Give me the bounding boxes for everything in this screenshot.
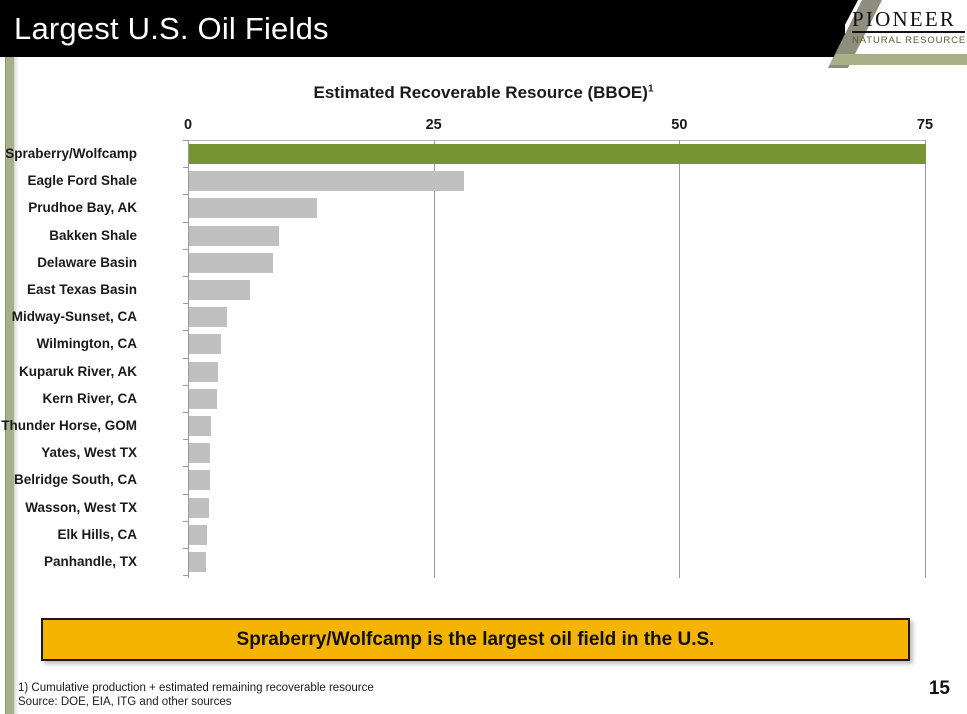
bar-spraberry-wolfcamp (189, 144, 926, 164)
chart-plot-area: Spraberry/WolfcampEagle Ford ShalePrudho… (188, 140, 925, 578)
footnotes: 1) Cumulative production + estimated rem… (18, 681, 374, 709)
chart-title-footnote-marker: 1 (648, 83, 654, 94)
callout-box: Spraberry/Wolfcamp is the largest oil fi… (41, 618, 910, 661)
y-axis-tick (183, 494, 188, 495)
category-label-spraberry-wolfcamp: Spraberry/Wolfcamp (0, 144, 137, 164)
bar-midway-sunset-ca (189, 307, 227, 327)
chart-row: Thunder Horse, GOM (188, 412, 925, 440)
footnote-1: 1) Cumulative production + estimated rem… (18, 681, 374, 695)
category-label-yates-west-tx: Yates, West TX (0, 443, 137, 463)
y-axis-tick (183, 548, 188, 549)
y-axis-tick (183, 330, 188, 331)
chart-row: Bakken Shale (188, 222, 925, 250)
page-title: Largest U.S. Oil Fields (14, 4, 329, 54)
category-label-thunder-horse-gom: Thunder Horse, GOM (0, 416, 137, 436)
bar-kern-river-ca (189, 389, 217, 409)
y-axis-tick (183, 276, 188, 277)
bar-thunder-horse-gom (189, 416, 211, 436)
x-axis-tick-50: 50 (671, 117, 687, 133)
chart-row: Spraberry/Wolfcamp (188, 140, 925, 168)
bar-wasson-west-tx (189, 498, 209, 518)
category-label-wasson-west-tx: Wasson, West TX (0, 498, 137, 518)
y-axis-tick (183, 140, 188, 141)
bar-east-texas-basin (189, 280, 250, 300)
category-label-eagle-ford-shale: Eagle Ford Shale (0, 171, 137, 191)
company-logo: PIONEER NATURAL RESOURCES (852, 8, 967, 46)
bar-panhandle-tx (189, 552, 206, 572)
logo-rule (852, 31, 965, 33)
category-label-east-texas-basin: East Texas Basin (0, 280, 137, 300)
category-label-prudhoe-bay-ak: Prudhoe Bay, AK (0, 198, 137, 218)
chart-row: Kern River, CA (188, 385, 925, 413)
logo-accent-bar (852, 54, 967, 65)
bar-belridge-south-ca (189, 470, 210, 490)
chart-title-text: Estimated Recoverable Resource (BBOE) (313, 83, 647, 102)
gridline-75 (925, 140, 926, 578)
category-label-panhandle-tx: Panhandle, TX (0, 552, 137, 572)
chart-row: East Texas Basin (188, 276, 925, 304)
bar-bakken-shale (189, 226, 279, 246)
y-axis-tick (183, 358, 188, 359)
chart-row: Elk Hills, CA (188, 521, 925, 549)
footnote-2: Source: DOE, EIA, ITG and other sources (18, 695, 374, 709)
category-label-kern-river-ca: Kern River, CA (0, 389, 137, 409)
bar-kuparuk-river-ak (189, 362, 218, 382)
chart-row: Wilmington, CA (188, 330, 925, 358)
x-axis-tick-0: 0 (184, 117, 192, 133)
callout-text: Spraberry/Wolfcamp is the largest oil fi… (237, 629, 715, 651)
category-label-elk-hills-ca: Elk Hills, CA (0, 525, 137, 545)
chart-row: Panhandle, TX (188, 548, 925, 576)
y-axis-tick (183, 385, 188, 386)
y-axis-tick (183, 303, 188, 304)
y-axis-tick (183, 194, 188, 195)
chart-row: Yates, West TX (188, 439, 925, 467)
y-axis-tick (183, 222, 188, 223)
category-label-midway-sunset-ca: Midway-Sunset, CA (0, 307, 137, 327)
category-label-belridge-south-ca: Belridge South, CA (0, 470, 137, 490)
category-label-wilmington-ca: Wilmington, CA (0, 334, 137, 354)
x-axis-tick-25: 25 (426, 117, 442, 133)
logo-wordmark: PIONEER (852, 8, 967, 30)
chart-row: Eagle Ford Shale (188, 167, 925, 195)
page-number: 15 (929, 678, 950, 700)
left-accent-shadow (14, 0, 19, 714)
slide: Largest U.S. Oil Fields PIONEER NATURAL … (0, 0, 967, 714)
y-axis-end-tick (183, 575, 188, 576)
slide-header: Largest U.S. Oil Fields (0, 0, 967, 57)
category-label-bakken-shale: Bakken Shale (0, 226, 137, 246)
chart-row: Kuparuk River, AK (188, 358, 925, 386)
category-label-kuparuk-river-ak: Kuparuk River, AK (0, 362, 137, 382)
y-axis-tick (183, 521, 188, 522)
bar-elk-hills-ca (189, 525, 207, 545)
bar-yates-west-tx (189, 443, 210, 463)
bar-delaware-basin (189, 253, 273, 273)
y-axis-tick (183, 412, 188, 413)
chart-row: Belridge South, CA (188, 466, 925, 494)
chart-row: Delaware Basin (188, 249, 925, 277)
chart-row: Prudhoe Bay, AK (188, 194, 925, 222)
logo-tagline: NATURAL RESOURCES (852, 35, 967, 46)
chart-title: Estimated Recoverable Resource (BBOE)1 (0, 83, 967, 103)
y-axis-tick (183, 439, 188, 440)
y-axis-tick (183, 466, 188, 467)
chart-row: Wasson, West TX (188, 494, 925, 522)
x-axis-tick-75: 75 (917, 117, 933, 133)
category-label-delaware-basin: Delaware Basin (0, 253, 137, 273)
y-axis-tick (183, 249, 188, 250)
chart-row: Midway-Sunset, CA (188, 303, 925, 331)
bar-prudhoe-bay-ak (189, 198, 317, 218)
bar-eagle-ford-shale (189, 171, 464, 191)
bar-wilmington-ca (189, 334, 221, 354)
y-axis-tick (183, 167, 188, 168)
